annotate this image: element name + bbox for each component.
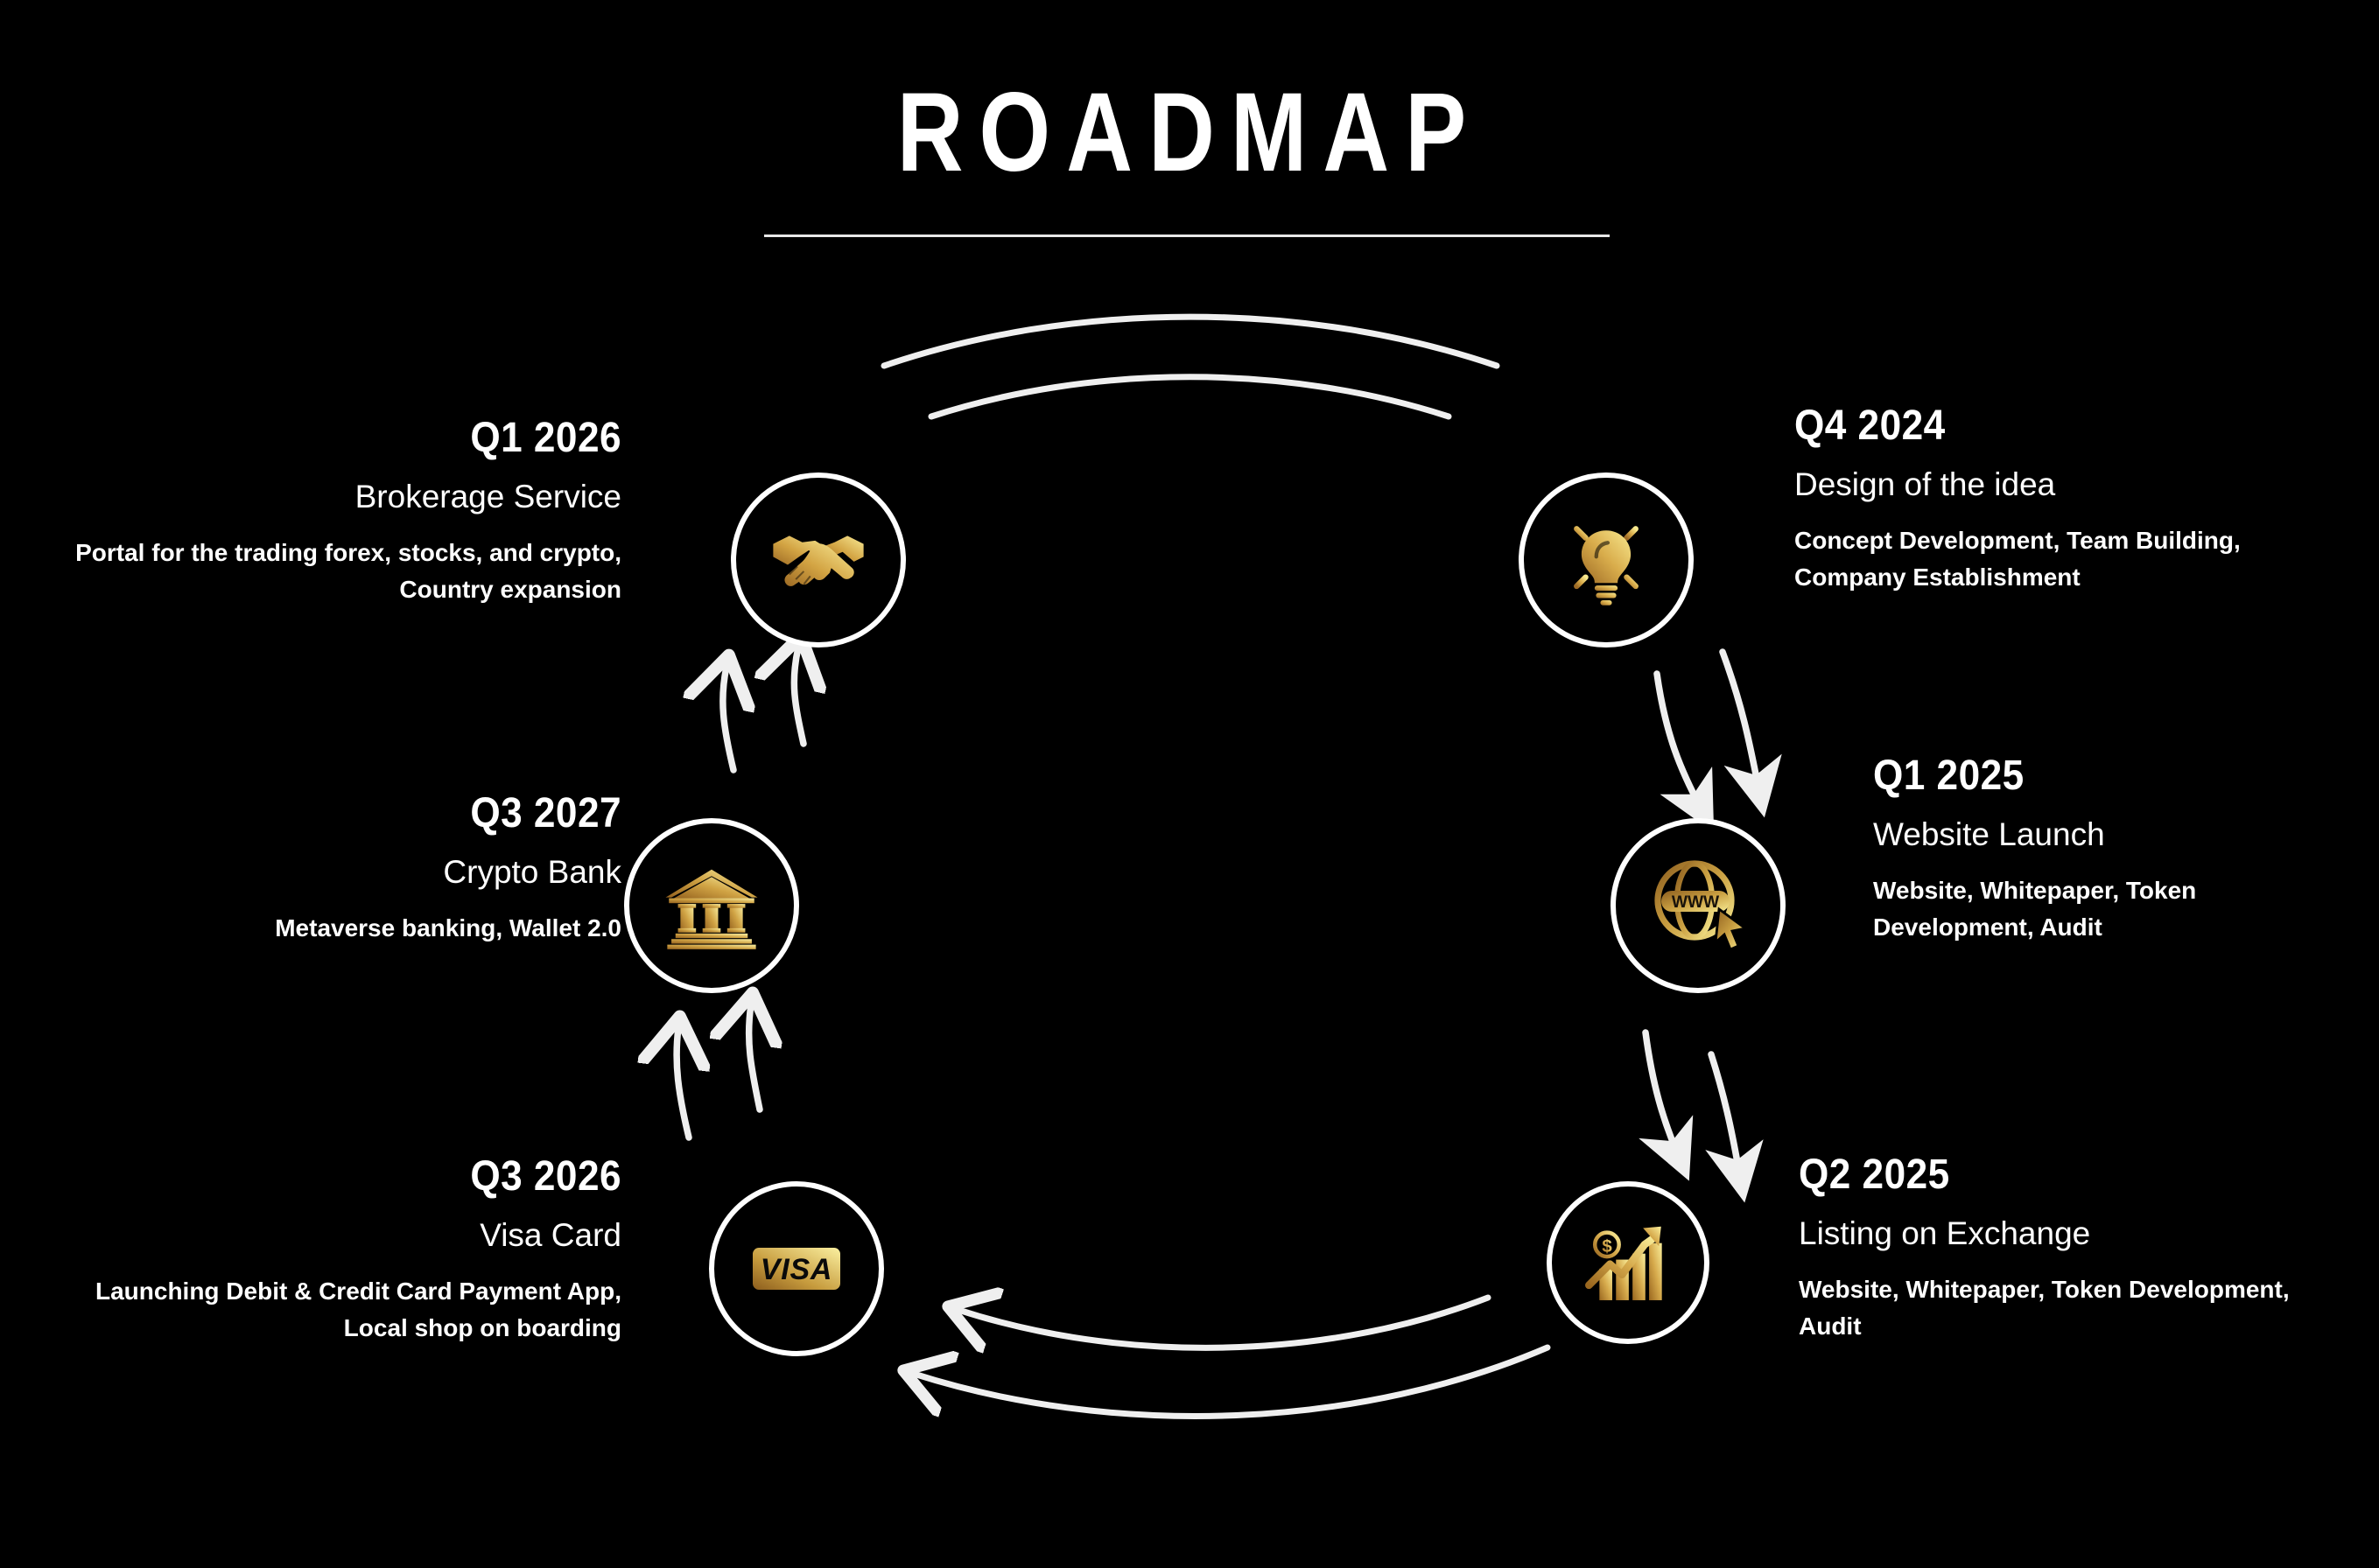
handshake-icon xyxy=(767,508,870,612)
arrow-q3-2026-to-q3-2027-b xyxy=(749,1004,760,1109)
node-q4-2024[interactable] xyxy=(1519,472,1694,647)
milestone-description: Launching Debit & Credit Card Payment Ap… xyxy=(53,1273,621,1347)
milestone-quarter: Q3 2027 xyxy=(98,792,621,836)
visa-brand-label: VISA xyxy=(761,1253,833,1286)
milestone-title: Crypto Bank xyxy=(53,853,621,892)
milestone-quarter: Q1 2025 xyxy=(1873,754,2324,798)
node-q2-2025[interactable]: $ xyxy=(1547,1181,1709,1344)
arrow-q3-2027-to-q1-2026-a xyxy=(723,667,733,770)
milestone-q3-2026: Q3 2026 Visa Card Launching Debit & Cred… xyxy=(53,1155,621,1347)
arrow-q3-2027-to-q1-2026-b xyxy=(794,647,804,744)
milestone-quarter: Q1 2026 xyxy=(98,416,621,460)
arc-bottom-inner xyxy=(958,1298,1488,1347)
globe-www-cursor-icon: WWW xyxy=(1642,850,1754,962)
milestone-q1-2025: Q1 2025 Website Launch Website, Whitepap… xyxy=(1873,754,2363,946)
lightbulb-icon xyxy=(1554,507,1659,612)
node-q3-2027[interactable] xyxy=(624,818,799,993)
arc-top-inner xyxy=(931,377,1449,416)
milestone-description: Metaverse banking, Wallet 2.0 xyxy=(53,910,621,947)
milestone-q2-2025: Q2 2025 Listing on Exchange Website, Whi… xyxy=(1799,1153,2324,1345)
visa-card-icon: VISA xyxy=(740,1213,853,1325)
milestone-q3-2027: Q3 2027 Crypto Bank Metaverse banking, W… xyxy=(53,792,621,947)
growth-chart-icon: $ xyxy=(1580,1214,1676,1311)
arrow-q4-to-q1-a xyxy=(1657,674,1702,809)
milestone-title: Listing on Exchange xyxy=(1799,1214,2324,1253)
arrow-q1-to-q2-a xyxy=(1646,1032,1679,1157)
arc-top-outer xyxy=(884,317,1497,366)
node-q1-2026[interactable] xyxy=(731,472,906,647)
milestone-q4-2024: Q4 2024 Design of the idea Concept Devel… xyxy=(1794,404,2337,596)
milestone-title: Design of the idea xyxy=(1794,465,2337,504)
milestone-q1-2026: Q1 2026 Brokerage Service Portal for the… xyxy=(53,416,621,608)
arc-bottom-outer xyxy=(914,1347,1547,1416)
milestone-description: Website, Whitepaper, Token Development, … xyxy=(1799,1271,2324,1345)
node-q1-2025[interactable]: WWW xyxy=(1611,818,1786,993)
milestone-title: Visa Card xyxy=(53,1216,621,1255)
svg-text:$: $ xyxy=(1602,1236,1612,1256)
arrow-q4-to-q1-b xyxy=(1723,652,1759,792)
milestone-quarter: Q2 2025 xyxy=(1799,1153,2282,1197)
milestone-description: Portal for the trading forex, stocks, an… xyxy=(53,535,621,608)
arrow-q3-2026-to-q3-2027-a xyxy=(677,1028,689,1137)
bank-building-icon xyxy=(659,853,764,958)
node-q3-2026[interactable]: VISA xyxy=(709,1181,884,1356)
milestone-description: Website, Whitepaper, Token Development, … xyxy=(1873,872,2363,946)
milestone-title: Brokerage Service xyxy=(53,478,621,516)
milestone-quarter: Q4 2024 xyxy=(1794,404,2293,448)
milestone-title: Website Launch xyxy=(1873,815,2363,854)
milestone-description: Concept Development, Team Building, Comp… xyxy=(1794,522,2337,596)
roadmap-infographic: ROADMAP xyxy=(0,0,2379,1568)
milestone-quarter: Q3 2026 xyxy=(98,1155,621,1199)
globe-www-label: WWW xyxy=(1672,893,1720,912)
arrow-q1-to-q2-b xyxy=(1711,1054,1740,1177)
